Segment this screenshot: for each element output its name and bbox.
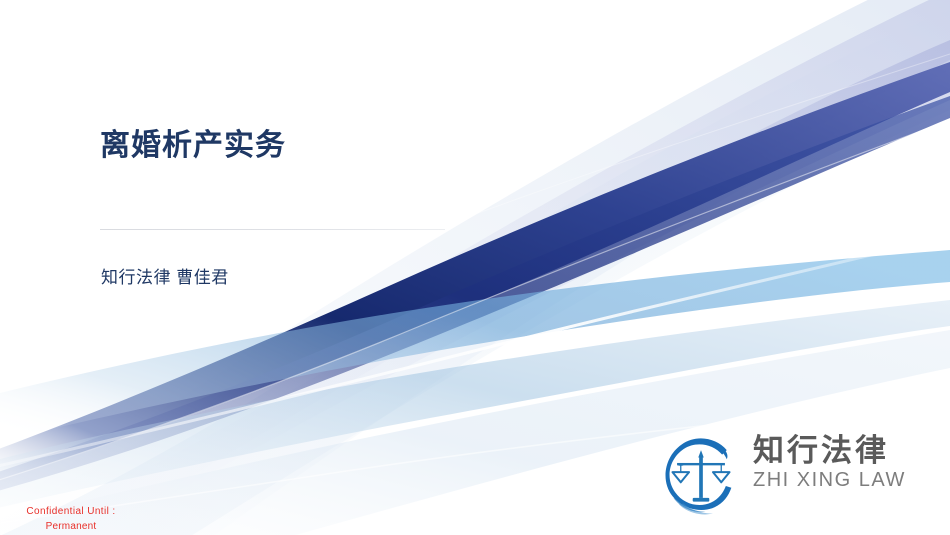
confidentiality-notice: Confidential Until : Permanent [6,505,136,534]
logo-chinese-name: 知行法律 [753,434,943,467]
confidentiality-line-1: Confidential Until : [6,505,136,520]
logo-text-block: 知行法律 ZHI XING LAW [753,434,943,492]
title-block: 离婚析产实务 [100,128,580,164]
logo-english-name: ZHI XING LAW [753,468,943,492]
page-title: 离婚析产实务 [100,128,580,164]
scales-of-justice-brush-circle-icon [655,425,747,523]
presenter-subtitle: 知行法律 曹佳君 [101,263,229,288]
firm-logo: 知行法律 ZHI XING LAW [655,420,945,528]
presentation-title-slide: 离婚析产实务 知行法律 曹佳君 Confidential Until : Per… [0,0,950,535]
title-divider [100,229,445,230]
confidentiality-line-2: Permanent [6,520,136,535]
